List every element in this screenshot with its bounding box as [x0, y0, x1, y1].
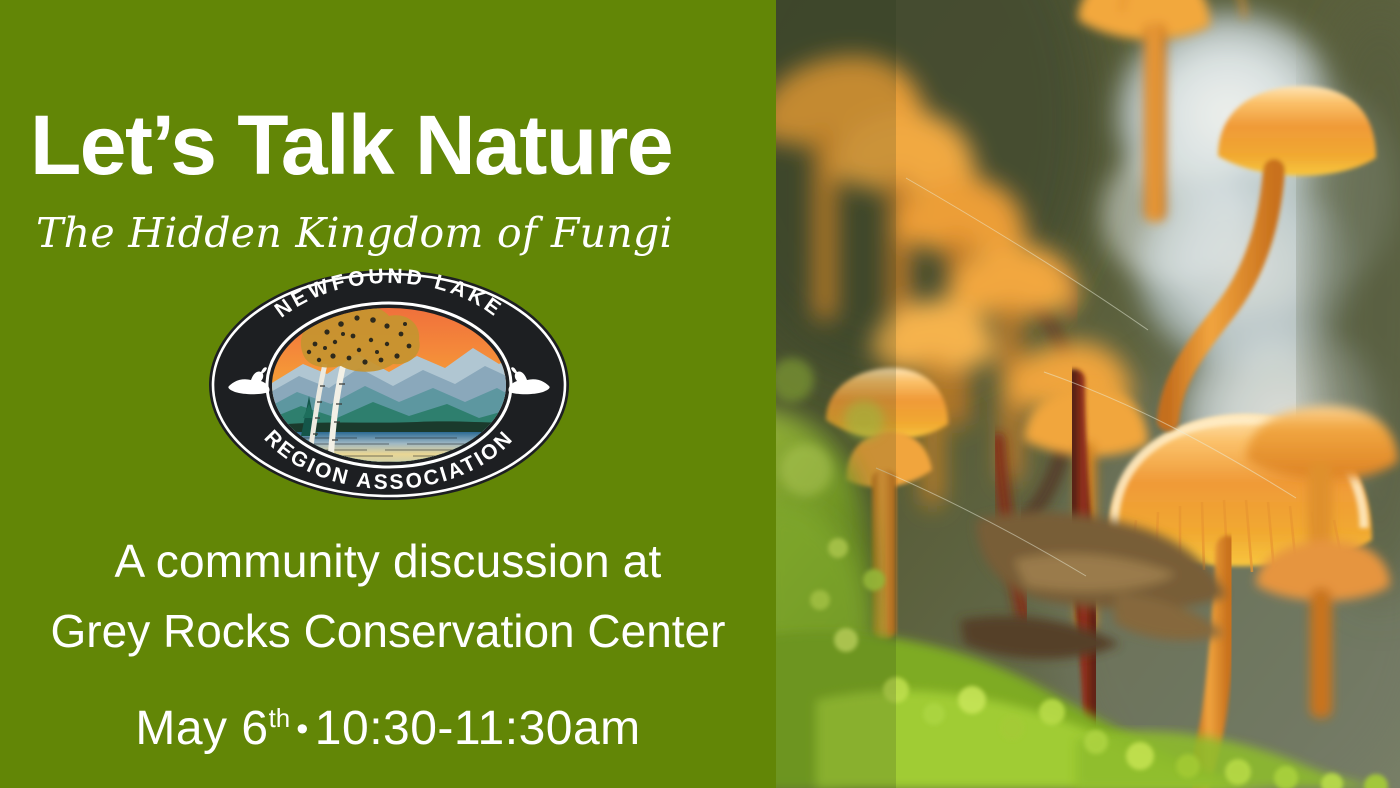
event-flyer: Let’s Talk Nature The Hidden Kingdom of … — [0, 0, 1400, 788]
logo-artwork: NEWFOUND LAKE REGION ASSOCIATION — [207, 268, 571, 502]
event-date: May 6 — [135, 702, 268, 755]
page-subtitle: The Hidden Kingdom of Fungi — [36, 211, 766, 256]
datetime-separator: • — [290, 710, 315, 748]
event-time: 10:30-11:30am — [315, 702, 641, 755]
photo-artwork — [776, 0, 1400, 788]
page-title: Let’s Talk Nature — [30, 103, 760, 187]
event-details: A community discussion at Grey Rocks Con… — [0, 527, 776, 756]
date-ordinal-suffix: th — [269, 705, 291, 733]
mushroom-photo — [776, 0, 1400, 788]
content-panel: Let’s Talk Nature The Hidden Kingdom of … — [0, 0, 776, 788]
description-line-1: A community discussion at — [0, 527, 776, 597]
event-datetime: May 6th•10:30-11:30am — [0, 703, 776, 756]
nlra-logo: NEWFOUND LAKE REGION ASSOCIATION — [207, 268, 571, 502]
description-line-2: Grey Rocks Conservation Center — [0, 597, 776, 667]
